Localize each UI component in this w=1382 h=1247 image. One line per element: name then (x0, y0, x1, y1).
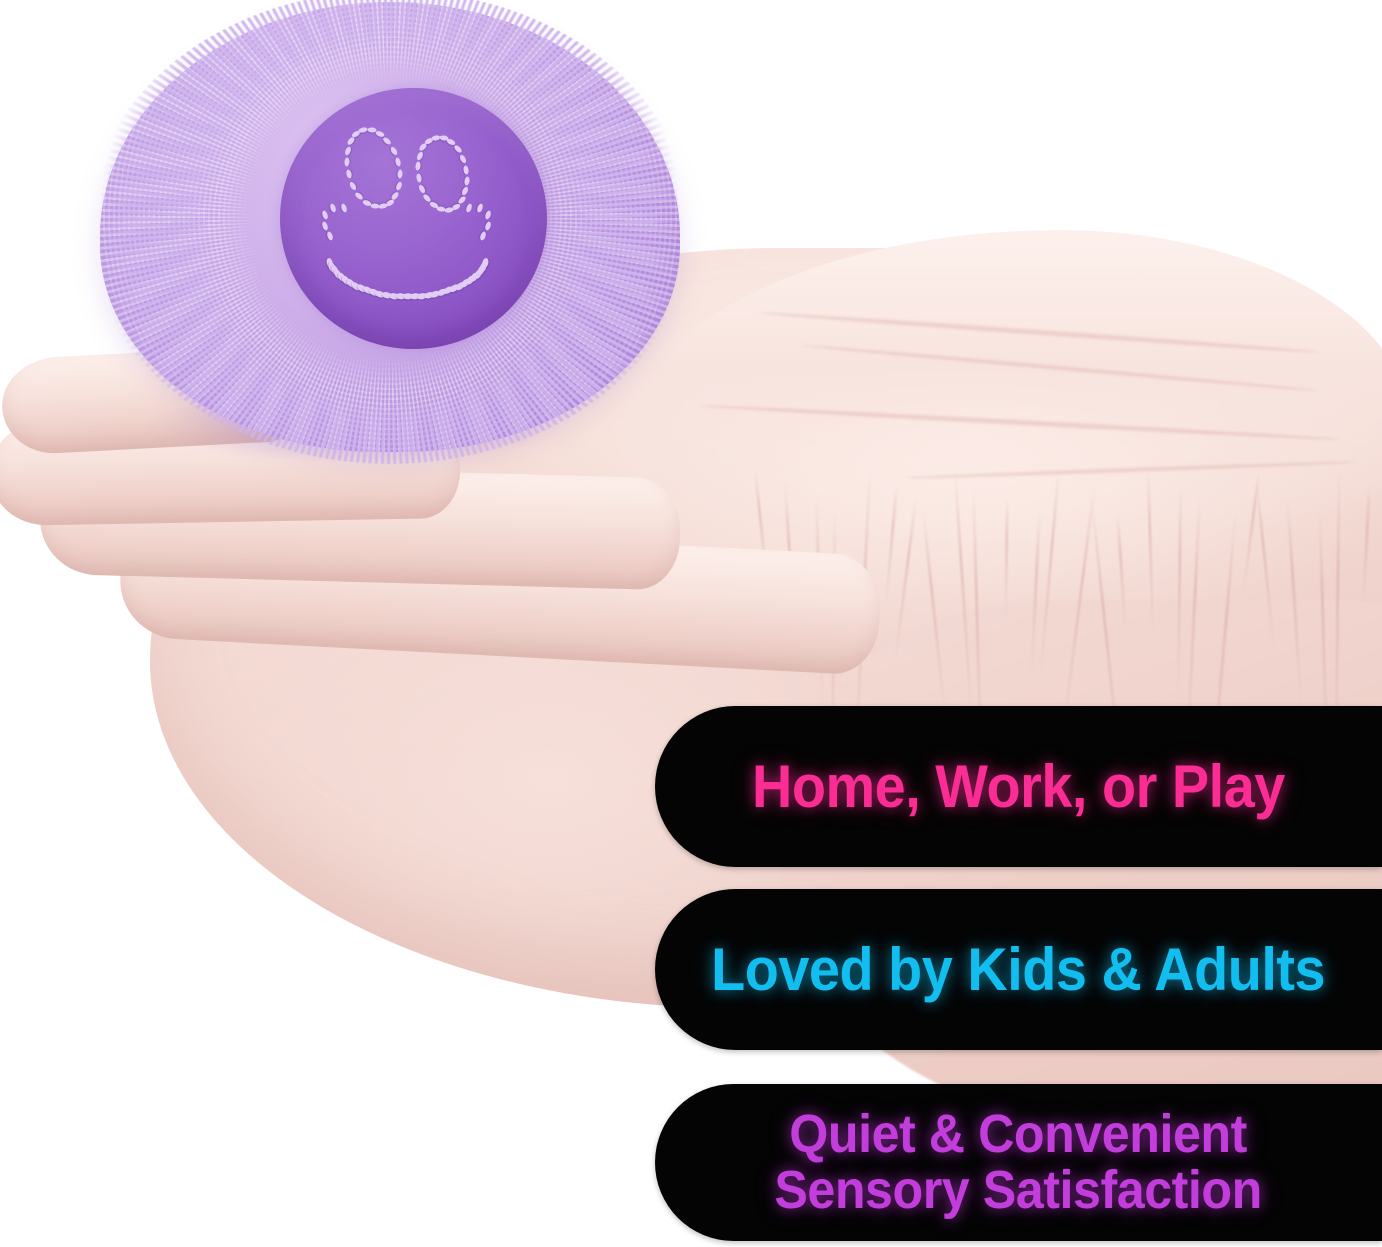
feature-banner-loved-by-kids-adults: Loved by Kids & Adults (655, 889, 1382, 1050)
smiley-left-eye-nub (354, 191, 364, 201)
feature-banner-text: Loved by Kids & Adults (712, 939, 1326, 1000)
smiley-mouth-curl-nub (479, 231, 487, 241)
smiley-left-eye-nub (346, 136, 356, 146)
smiley-left-eye-nub (395, 181, 403, 191)
smiley-left-eye-nub (344, 146, 352, 156)
smiley-mouth-curl-nub (321, 210, 329, 220)
smiley-left-eye-nub (397, 170, 403, 179)
smiley-left-eye-nub (344, 158, 350, 167)
smiley-right-eye-nub (453, 144, 463, 154)
smiley-right-eye-nub (416, 173, 422, 183)
product-feature-image: Home, Work, or Play Loved by Kids & Adul… (0, 0, 1382, 1247)
smiley-right-eye-nub (418, 183, 427, 193)
feature-banner-text-line-2: Sensory Satisfaction (775, 1163, 1262, 1218)
smiley-left-eye-nub (382, 136, 392, 146)
puffer-ball (100, 2, 680, 452)
feature-banner-text: Home, Work, or Play (752, 756, 1285, 817)
smiley-mouth-curl-nub (329, 202, 337, 212)
smiley-mouth-curl-nub (321, 221, 329, 231)
smiley-mouth-curl-nub (465, 202, 473, 212)
smiley-right-eye-nub (415, 151, 423, 161)
smiley-left-eye-nub (361, 199, 371, 207)
smiley-right-eye-nub (459, 153, 468, 163)
feature-banner-text-line-1: Quiet & Convenient (775, 1107, 1262, 1162)
ball-smiley-face (280, 88, 547, 349)
smiley-right-eye-nub (415, 162, 421, 172)
smiley-mouth-curl-nub (340, 202, 348, 212)
smiley-mouth-curl-nub (484, 221, 492, 231)
smiley-left-eye-nub (345, 169, 352, 179)
smiley-left-eye-nub (370, 204, 379, 210)
smiley-right-eye-nub (444, 206, 454, 212)
smiley-mouth-curl-nub (484, 210, 492, 220)
smiley-mouth-nub (481, 257, 489, 268)
smiley-right-eye-nub (463, 165, 469, 175)
smiley-left-eye-nub (389, 146, 398, 156)
feature-banner-quiet-convenient: Quiet & Convenient Sensory Satisfaction (655, 1084, 1382, 1241)
smiley-right-eye-nub (464, 176, 470, 186)
smiley-mouth-curl-nub (476, 202, 484, 212)
smiley-left-eye-nub (394, 157, 401, 167)
feature-banner-text: Quiet & Convenient Sensory Satisfaction (775, 1107, 1262, 1217)
smiley-mouth-curl-nub (327, 231, 335, 241)
feature-banner-home-work-play: Home, Work, or Play (655, 706, 1382, 867)
smiley-left-eye-nub (348, 181, 357, 191)
